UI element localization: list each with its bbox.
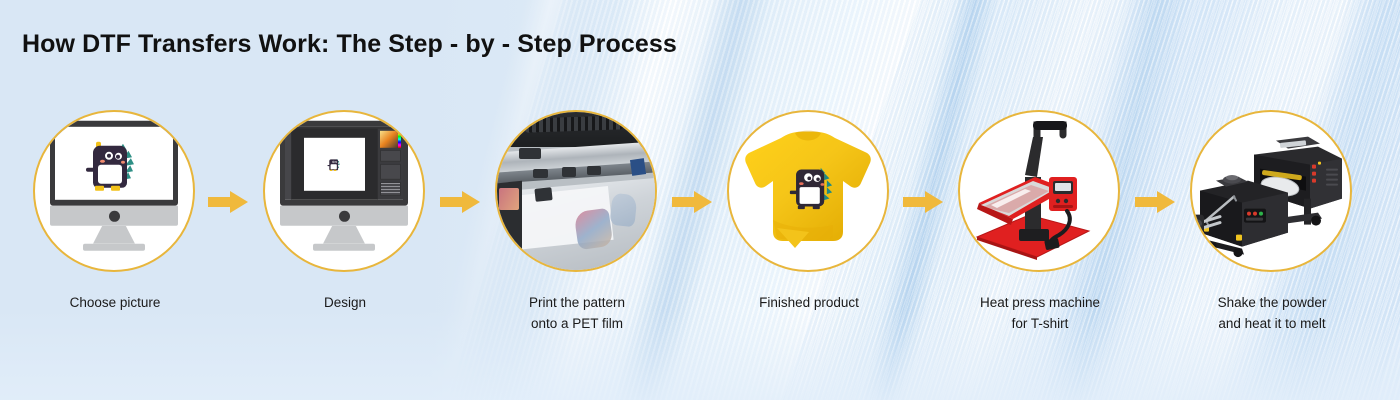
arrow-step1-to-step2 bbox=[208, 191, 248, 213]
step-5-heat-press[interactable]: Heat press machine for T-shirt bbox=[958, 110, 1122, 334]
step-5-circle bbox=[958, 110, 1120, 272]
right-arrow-icon bbox=[440, 191, 480, 213]
step-4-circle bbox=[727, 110, 889, 272]
step-6-caption: Shake the powder and heat it to melt bbox=[1190, 292, 1354, 334]
step-1-choose-picture[interactable]: Choose picture bbox=[33, 110, 197, 313]
dtf-process-infographic: How DTF Transfers Work: The Step - by - … bbox=[0, 0, 1400, 400]
step-1-circle bbox=[33, 110, 195, 272]
right-arrow-icon bbox=[903, 191, 943, 213]
caption-line: Shake the powder bbox=[1190, 292, 1354, 313]
step-4-caption: Finished product bbox=[727, 292, 891, 313]
caption-line: Design bbox=[263, 292, 427, 313]
monitor-stand-dot bbox=[109, 210, 120, 221]
dtf-machine-svg bbox=[1192, 129, 1350, 259]
caption-line: Choose picture bbox=[33, 292, 197, 313]
step-1-caption: Choose picture bbox=[33, 292, 197, 313]
step-6-circle bbox=[1190, 110, 1352, 272]
caption-line: Heat press machine bbox=[958, 292, 1122, 313]
right-arrow-icon bbox=[1135, 191, 1175, 213]
caption-line: Print the pattern bbox=[495, 292, 659, 313]
process-steps: Choose picture bbox=[0, 0, 1400, 400]
step-3-print-pattern[interactable]: Print the pattern onto a PET film bbox=[495, 110, 659, 334]
step-4-finished-product[interactable]: Finished product bbox=[727, 110, 891, 313]
yellow-tshirt-icon bbox=[737, 128, 879, 254]
caption-line: onto a PET film bbox=[495, 313, 659, 334]
dtf-printer-photo bbox=[497, 112, 655, 270]
right-arrow-icon bbox=[672, 191, 712, 213]
heat-press-svg bbox=[963, 119, 1115, 269]
step-5-caption: Heat press machine for T-shirt bbox=[958, 292, 1122, 334]
dino-character-icon bbox=[319, 154, 350, 175]
design-software-monitor-icon bbox=[280, 121, 408, 251]
photoshop-ui-icon bbox=[285, 127, 403, 200]
caption-line: Finished product bbox=[727, 292, 891, 313]
caption-line: for T-shirt bbox=[958, 313, 1122, 334]
arrow-step3-to-step4 bbox=[672, 191, 712, 213]
step-3-caption: Print the pattern onto a PET film bbox=[495, 292, 659, 334]
step-2-circle bbox=[263, 110, 425, 272]
caption-line: and heat it to melt bbox=[1190, 313, 1354, 334]
desktop-monitor-icon bbox=[50, 121, 178, 251]
color-picker-swatch bbox=[380, 131, 401, 148]
step-2-design[interactable]: Design bbox=[263, 110, 427, 313]
monitor-stand-dot bbox=[339, 210, 350, 221]
step-2-caption: Design bbox=[263, 292, 427, 313]
dtf-powder-shaker-icon bbox=[1192, 129, 1350, 259]
step-3-circle bbox=[495, 110, 657, 272]
tshirt-svg bbox=[737, 128, 879, 254]
heat-press-machine-icon bbox=[963, 119, 1115, 269]
arrow-step2-to-step3 bbox=[440, 191, 480, 213]
arrow-step5-to-step6 bbox=[1135, 191, 1175, 213]
step-6-shake-powder[interactable]: Shake the powder and heat it to melt bbox=[1190, 110, 1354, 334]
arrow-step4-to-step5 bbox=[903, 191, 943, 213]
right-arrow-icon bbox=[208, 191, 248, 213]
